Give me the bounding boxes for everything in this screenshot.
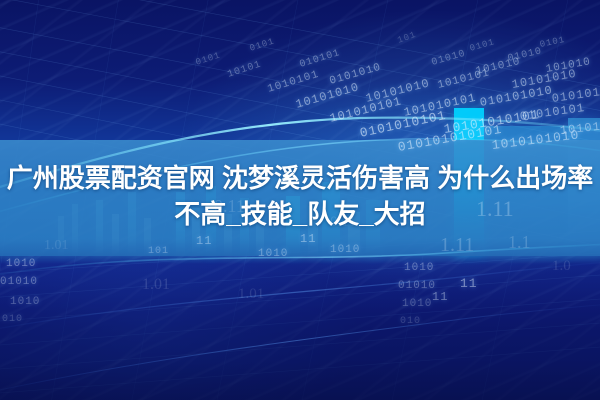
page-title-line-2: 不高_技能_队友_大招 xyxy=(0,196,600,232)
numeric-watermark: 1.0 xyxy=(552,258,571,275)
numeric-watermark: 1.11 xyxy=(440,234,474,257)
banner-image: 0101101010101101010101010110101010010101… xyxy=(0,0,600,400)
numeric-watermark: 1.01 xyxy=(44,238,69,254)
page-title-line-1: 广州股票配资官网 沈梦溪灵活伤害高 为什么出场率 xyxy=(0,160,600,196)
page-title: 广州股票配资官网 沈梦溪灵活伤害高 为什么出场率 不高_技能_队友_大招 xyxy=(0,160,600,232)
numeric-watermark: 1.01 xyxy=(238,286,264,303)
numeric-watermark: 1.1 xyxy=(508,232,531,253)
numeric-watermark: 1.01 xyxy=(142,276,170,294)
